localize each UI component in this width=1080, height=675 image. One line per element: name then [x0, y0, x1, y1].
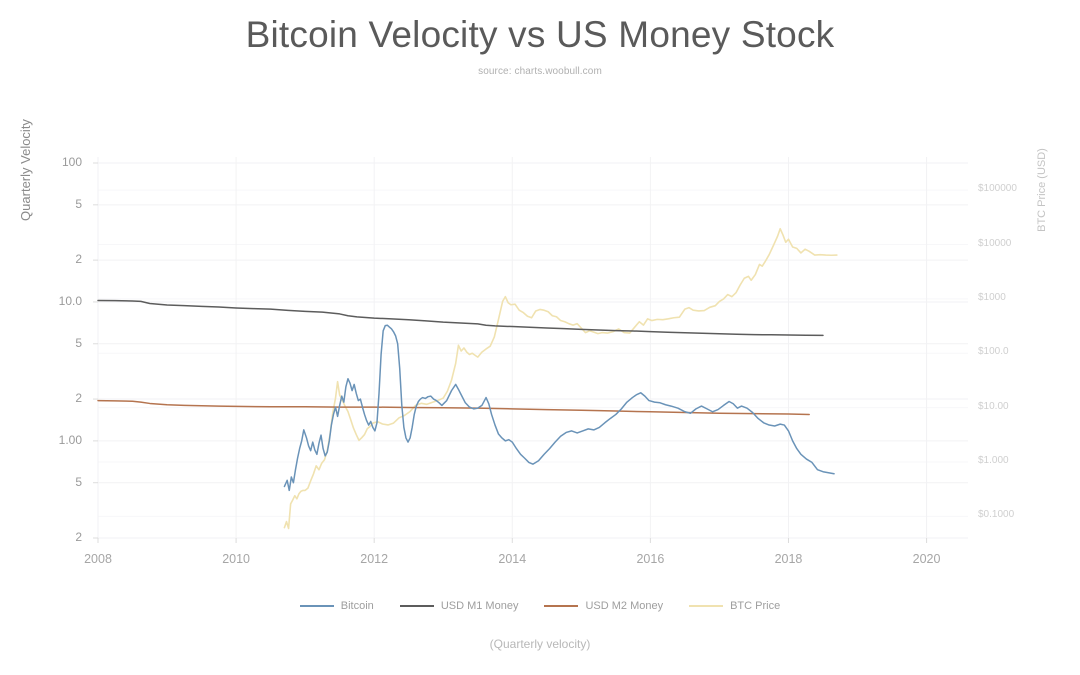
legend-swatch-icon	[300, 605, 334, 607]
legend-item-label: USD M2 Money	[585, 600, 663, 612]
y-axis-tick-label-left: 100	[26, 155, 82, 169]
chart-plot-area	[0, 0, 1080, 675]
legend-item[interactable]: USD M2 Money	[544, 600, 663, 612]
y-axis-tick-label-right: $100000	[978, 183, 1068, 194]
legend-item[interactable]: USD M1 Money	[400, 600, 519, 612]
y-axis-tick-label-left: 1.00	[26, 433, 82, 447]
legend-item-label: BTC Price	[730, 600, 780, 612]
legend-item[interactable]: BTC Price	[689, 600, 780, 612]
legend-item-label: Bitcoin	[341, 600, 374, 612]
x-axis-caption: (Quarterly velocity)	[0, 637, 1080, 651]
y-axis-tick-label-right: $10.00	[978, 401, 1068, 412]
series-line-btc-price	[284, 229, 836, 529]
y-axis-tick-label-left: 2	[26, 530, 82, 544]
legend-swatch-icon	[689, 605, 723, 607]
legend-item[interactable]: Bitcoin	[300, 600, 374, 612]
y-axis-tick-label-right: $1.000	[978, 455, 1068, 466]
x-axis-tick-label: 2016	[620, 552, 680, 566]
x-axis-tick-label: 2010	[206, 552, 266, 566]
legend-swatch-icon	[400, 605, 434, 607]
y-axis-tick-label-right: $1000	[978, 292, 1068, 303]
y-axis-tick-label-right: $0.1000	[978, 509, 1068, 520]
y-axis-tick-label-left: 5	[26, 475, 82, 489]
x-axis-tick-label: 2008	[68, 552, 128, 566]
legend-swatch-icon	[544, 605, 578, 607]
chart-legend: BitcoinUSD M1 MoneyUSD M2 MoneyBTC Price	[0, 600, 1080, 612]
y-axis-tick-label-left: 5	[26, 336, 82, 350]
y-axis-tick-label-left: 5	[26, 197, 82, 211]
y-axis-tick-label-right: $100.0	[978, 346, 1068, 357]
x-axis-tick-label: 2018	[758, 552, 818, 566]
x-axis-tick-label: 2020	[897, 552, 957, 566]
y-axis-tick-label-left: 2	[26, 391, 82, 405]
y-axis-tick-label-left: 10.0	[26, 294, 82, 308]
x-axis-tick-label: 2012	[344, 552, 404, 566]
legend-item-label: USD M1 Money	[441, 600, 519, 612]
y-axis-tick-label-right: $10000	[978, 238, 1068, 249]
y-axis-tick-label-left: 2	[26, 252, 82, 266]
chart-container: Bitcoin Velocity vs US Money Stock sourc…	[0, 0, 1080, 675]
x-axis-tick-label: 2014	[482, 552, 542, 566]
